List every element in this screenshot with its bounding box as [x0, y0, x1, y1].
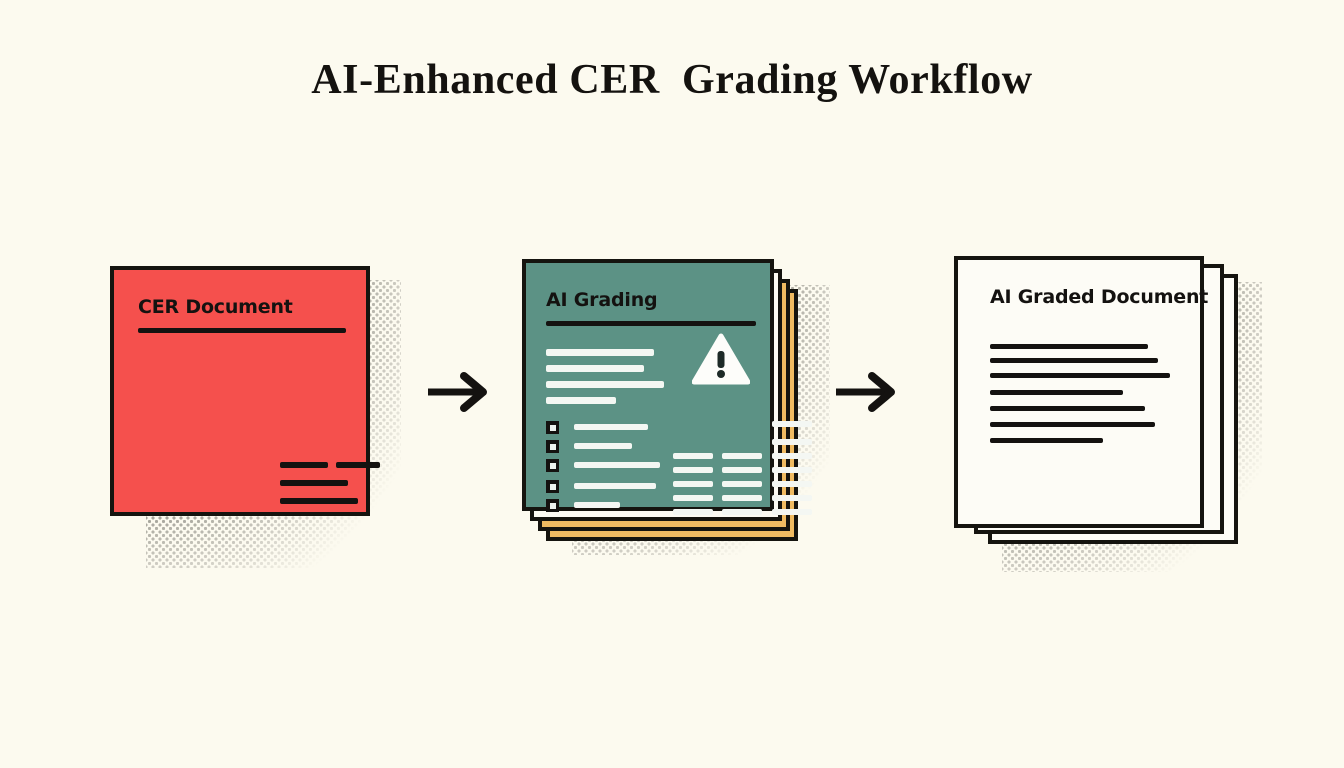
- ai-grading-card[interactable]: AI Grading: [522, 259, 774, 511]
- ai-grading-table-cell: [673, 467, 713, 473]
- page-title: AI-Enhanced CER Grading Workflow: [0, 56, 1344, 104]
- cer-document-title-rule: [138, 328, 346, 333]
- ai-grading-table-cell: [772, 421, 812, 427]
- ai-grading-table-cell: [722, 453, 762, 459]
- ai-grading-table-cell: [673, 495, 713, 501]
- cer-document-body-line: [280, 498, 358, 504]
- ai-grading-checklist-line: [574, 443, 632, 449]
- checkbox-icon[interactable]: [546, 440, 559, 453]
- ai-grading-table-cell: [772, 481, 812, 487]
- ai-grading-checklist-line: [574, 502, 620, 508]
- stage-cer-document[interactable]: CER Document: [104, 258, 404, 553]
- cer-document-body-line: [336, 462, 380, 468]
- ai-grading-paragraph-line: [546, 365, 644, 372]
- ai-grading-checklist-line: [574, 483, 656, 489]
- ai-grading-checklist-line: [574, 424, 648, 430]
- ai-grading-table-cell: [722, 509, 762, 515]
- ai-grading-checklist-line: [574, 462, 660, 468]
- stage-ai-grading[interactable]: AI Grading: [520, 253, 830, 553]
- arrow-right-icon: [836, 370, 898, 414]
- stage-ai-graded-document[interactable]: AI Graded Document: [946, 248, 1276, 568]
- cer-document-body-line: [280, 480, 348, 486]
- ai-grading-table-cell: [673, 453, 713, 459]
- ai-graded-document-body-line: [990, 373, 1170, 378]
- ai-grading-paragraph-line: [546, 349, 654, 356]
- cer-document-body-line: [280, 462, 328, 468]
- ai-grading-table-cell: [722, 481, 762, 487]
- checkbox-icon[interactable]: [546, 480, 559, 493]
- ai-graded-document-body-line: [990, 406, 1145, 411]
- ai-grading-table-cell: [772, 467, 812, 473]
- cer-document-card[interactable]: CER Document: [110, 266, 370, 516]
- arrow-right-icon: [428, 370, 490, 414]
- ai-graded-document-body-line: [990, 438, 1103, 443]
- ai-graded-document-title: AI Graded Document: [990, 286, 1208, 308]
- ai-grading-title: AI Grading: [546, 289, 657, 311]
- ai-grading-table-cell: [772, 439, 812, 445]
- workflow-diagram: CER Document AI Grading: [0, 248, 1344, 578]
- ai-grading-table-cell: [772, 495, 812, 501]
- ai-grading-table-cell: [673, 481, 713, 487]
- ai-graded-document-body-line: [990, 358, 1158, 363]
- warning-triangle-icon: [692, 333, 750, 385]
- ai-grading-table-cell: [673, 509, 713, 515]
- ai-grading-table-cell: [722, 467, 762, 473]
- ai-grading-table-cell: [772, 453, 812, 459]
- ai-grading-table-cell: [772, 509, 812, 515]
- ai-graded-document-body-line: [990, 390, 1123, 395]
- checkbox-icon[interactable]: [546, 499, 559, 512]
- checkbox-icon[interactable]: [546, 421, 559, 434]
- ai-grading-title-rule: [546, 321, 756, 326]
- ai-graded-document-body-line: [990, 422, 1155, 427]
- ai-graded-document-card[interactable]: AI Graded Document: [954, 256, 1204, 528]
- ai-grading-paragraph-line: [546, 397, 616, 404]
- checkbox-icon[interactable]: [546, 459, 559, 472]
- cer-document-title: CER Document: [138, 296, 293, 318]
- ai-graded-document-body-line: [990, 344, 1148, 349]
- ai-grading-paragraph-line: [546, 381, 664, 388]
- ai-grading-table-cell: [722, 495, 762, 501]
